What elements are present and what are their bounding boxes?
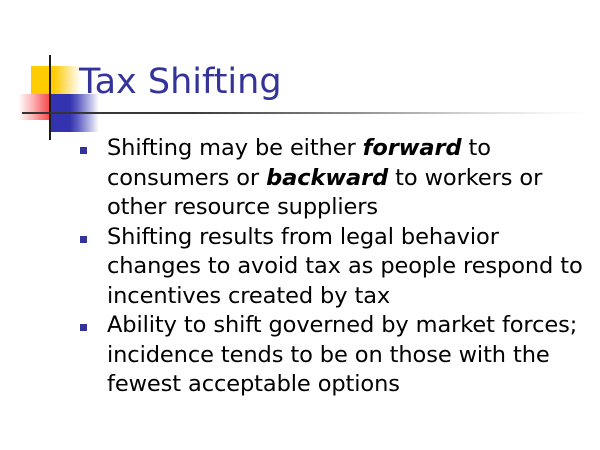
bullet-square-icon [80, 324, 87, 331]
vertical-rule-icon [49, 55, 51, 140]
bullet-text-2: Shifting results from legal behavior cha… [107, 223, 590, 312]
bullet-text-1: Shifting may be either forward to consum… [107, 134, 590, 223]
slide-title: Tax Shifting [79, 62, 282, 102]
bullet-square-icon [80, 236, 87, 243]
bullet-square-icon [80, 147, 87, 154]
bullet-text-3: Ability to shift governed by market forc… [107, 311, 590, 400]
title-divider [22, 112, 586, 114]
list-item: Ability to shift governed by market forc… [80, 311, 590, 400]
bullet-list: Shifting may be either forward to consum… [80, 134, 590, 400]
slide-canvas: Tax Shifting Shifting may be either forw… [0, 0, 600, 450]
list-item: Shifting may be either forward to consum… [80, 134, 590, 223]
list-item: Shifting results from legal behavior cha… [80, 223, 590, 312]
